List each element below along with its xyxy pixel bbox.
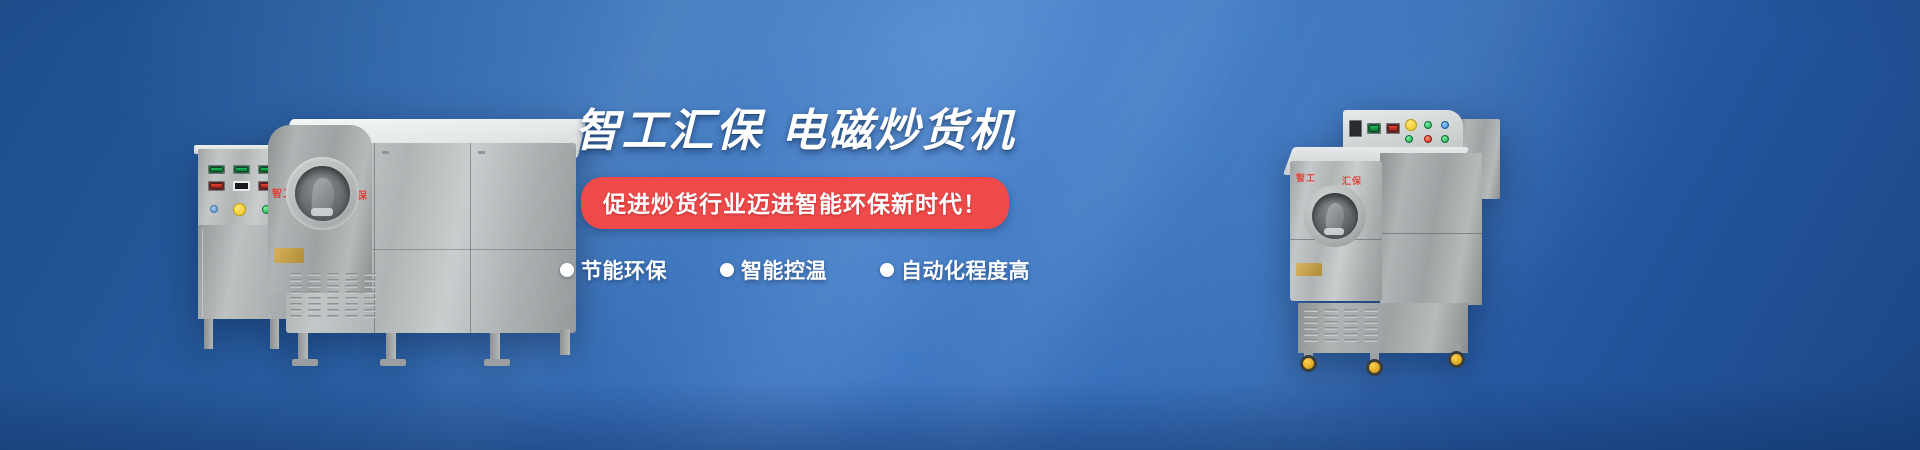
right-machine-side-panel xyxy=(1380,153,1482,305)
cabinet-leg xyxy=(204,319,213,349)
caster-wheel xyxy=(1300,355,1317,372)
feature-list: 节能环保 智能控温 自动化程度高 xyxy=(560,255,1030,285)
foot-pad xyxy=(380,359,406,366)
right-machine-base xyxy=(1298,303,1468,353)
hinge xyxy=(478,151,485,154)
machine-leg xyxy=(560,329,570,355)
right-machine-nameplate xyxy=(1296,263,1322,276)
meter-display xyxy=(1349,120,1362,137)
cabinet-edge-highlight xyxy=(202,229,203,317)
feature-item-1: 节能环保 xyxy=(560,255,667,285)
left-machine-image: 许昌智工 智工 汇保 xyxy=(190,105,585,370)
red-display xyxy=(1386,123,1400,134)
feature-label: 自动化程度高 xyxy=(901,255,1030,285)
bullet-dot-icon xyxy=(720,263,734,277)
title-part-1: 智工汇保 xyxy=(574,105,762,156)
green-display xyxy=(1367,123,1381,134)
left-machine-vent-louvers xyxy=(290,273,376,331)
indicator-light[interactable] xyxy=(1424,135,1432,143)
brand-mark-huibao: 汇保 xyxy=(1342,174,1362,187)
drum-interior xyxy=(1312,193,1358,239)
emergency-stop-button[interactable] xyxy=(1405,119,1417,131)
green-display xyxy=(233,165,250,174)
feature-item-3: 自动化程度高 xyxy=(880,255,1030,285)
promo-banner: 许昌智工 智工 汇保 xyxy=(0,0,1920,450)
hinge xyxy=(382,151,389,154)
bullet-dot-icon xyxy=(560,263,574,277)
indicator-light[interactable] xyxy=(210,205,218,213)
feature-item-2: 智能控温 xyxy=(720,255,827,285)
feature-label: 节能环保 xyxy=(581,255,667,285)
indicator-light[interactable] xyxy=(1441,121,1449,129)
indicator-light[interactable] xyxy=(1405,135,1413,143)
caster-wheel xyxy=(1366,359,1383,376)
caster-wheel xyxy=(1448,351,1465,368)
feature-label: 智能控温 xyxy=(741,255,827,285)
left-machine-nameplate xyxy=(274,248,304,263)
title-part-2: 电磁炒货机 xyxy=(781,105,1016,156)
bullet-dot-icon xyxy=(880,263,894,277)
drum-scoop xyxy=(311,208,333,216)
right-machine-drum-opening xyxy=(1304,185,1366,247)
indicator-light[interactable] xyxy=(1424,121,1432,129)
green-display xyxy=(208,165,225,174)
brand-mark-zhigong: 智工 xyxy=(1296,171,1316,184)
bottom-fade-overlay xyxy=(0,380,1920,450)
cabinet-leg xyxy=(270,319,279,349)
subtitle-ribbon: 促进炒货行业迈进智能环保新时代！ xyxy=(581,177,1009,229)
page-title: 智工汇保电磁炒货机 xyxy=(560,108,1030,153)
panel-seam xyxy=(1380,233,1482,234)
drum-scoop xyxy=(1324,228,1344,235)
left-machine-drum-opening xyxy=(286,157,359,230)
base-vent-louvers xyxy=(1304,309,1378,342)
drum-interior xyxy=(295,166,350,221)
indicator-light[interactable] xyxy=(1441,135,1449,143)
emergency-stop-button[interactable] xyxy=(233,203,246,216)
panel-seam xyxy=(470,143,471,333)
foot-pad xyxy=(292,359,318,366)
red-display xyxy=(233,181,250,191)
right-machine-image: 智工 汇保 xyxy=(1270,95,1520,365)
red-display xyxy=(208,181,225,191)
subtitle-text: 促进炒货行业迈进智能环保新时代！ xyxy=(603,191,987,217)
right-machine-control-panel xyxy=(1343,110,1463,150)
banner-copy-block: 智工汇保电磁炒货机 促进炒货行业迈进智能环保新时代！ 节能环保 智能控温 自动化… xyxy=(560,108,1030,285)
foot-pad xyxy=(484,359,510,366)
